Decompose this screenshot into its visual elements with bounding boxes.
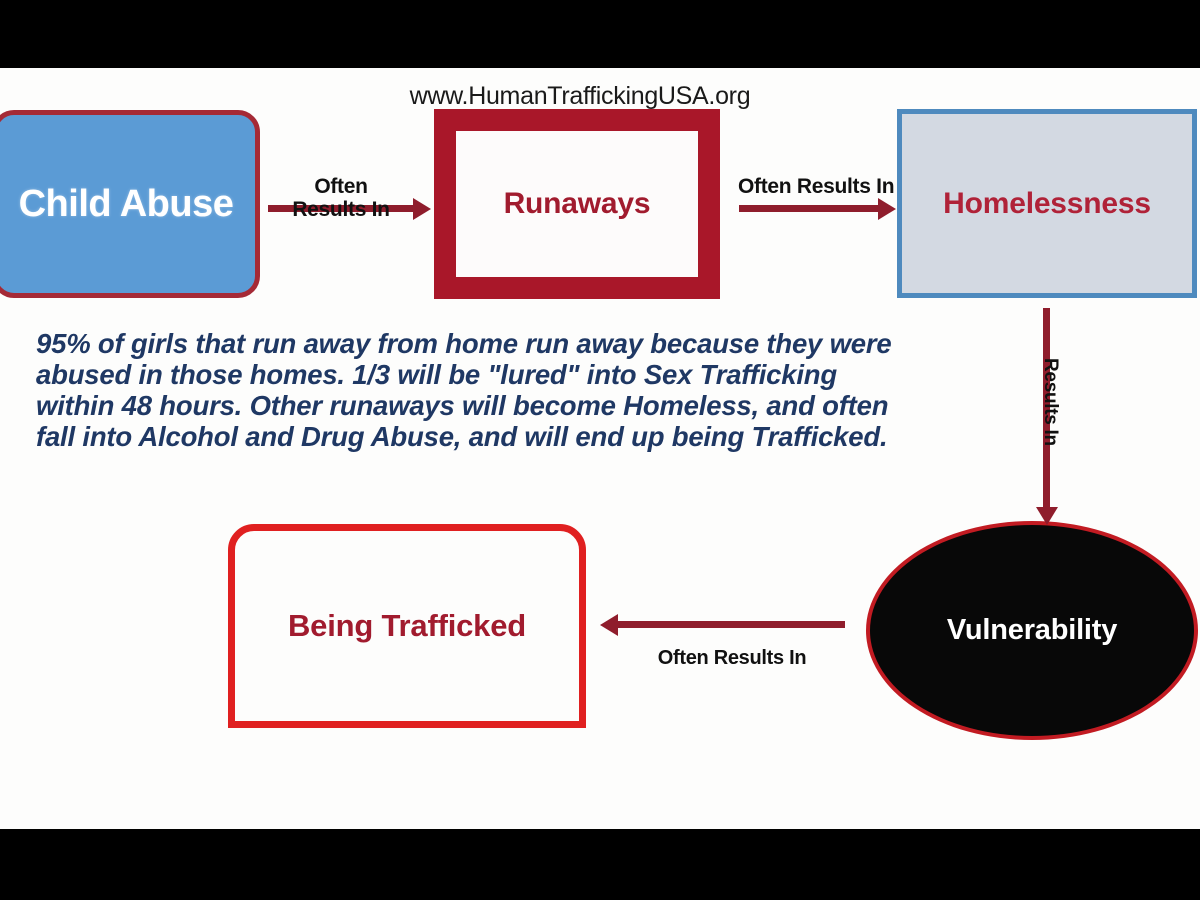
node-runaways: Runaways — [434, 109, 720, 299]
arrowhead-down-icon — [1036, 507, 1058, 525]
edge-label-runaways-to-homelessness: Often Results In — [738, 176, 886, 199]
edge-label-line1: Often — [738, 175, 791, 198]
statistic-paragraph: 95% of girls that run away from home run… — [36, 328, 916, 452]
edge-label-line1: Often — [314, 175, 367, 198]
arrowhead-left-icon — [600, 614, 618, 636]
node-vulnerability: Vulnerability — [866, 521, 1198, 740]
edge-label-line2: Results In — [266, 199, 416, 222]
node-homelessness: Homelessness — [897, 109, 1197, 298]
arrow-runaways-to-homelessness — [739, 205, 879, 212]
arrowhead-right-icon — [878, 198, 896, 220]
edge-label-child-abuse-to-runaways: Often Results In — [266, 176, 416, 221]
arrow-vulnerability-to-being-trafficked — [617, 621, 845, 628]
node-homelessness-label: Homelessness — [943, 187, 1151, 221]
node-child-abuse-label: Child Abuse — [19, 183, 234, 226]
edge-label-vulnerability-to-being-trafficked: Often Results In — [620, 648, 844, 670]
node-runaways-inner: Runaways — [456, 131, 698, 277]
node-being-trafficked: Being Trafficked — [228, 524, 586, 728]
node-runaways-label: Runaways — [504, 187, 651, 221]
edge-label-homelessness-to-vulnerability: Results In — [1039, 358, 1060, 468]
node-vulnerability-label: Vulnerability — [947, 614, 1117, 647]
edge-label-line2: Results In — [797, 175, 894, 198]
letterbox-bar-top — [0, 0, 1200, 68]
letterbox-bar-bottom — [0, 829, 1200, 900]
site-url: www.HumanTraffickingUSA.org — [0, 82, 1160, 111]
node-being-trafficked-label: Being Trafficked — [288, 608, 526, 644]
diagram-canvas: www.HumanTraffickingUSA.org Child Abuse … — [0, 68, 1200, 829]
video-frame: www.HumanTraffickingUSA.org Child Abuse … — [0, 0, 1200, 900]
node-child-abuse: Child Abuse — [0, 110, 260, 298]
